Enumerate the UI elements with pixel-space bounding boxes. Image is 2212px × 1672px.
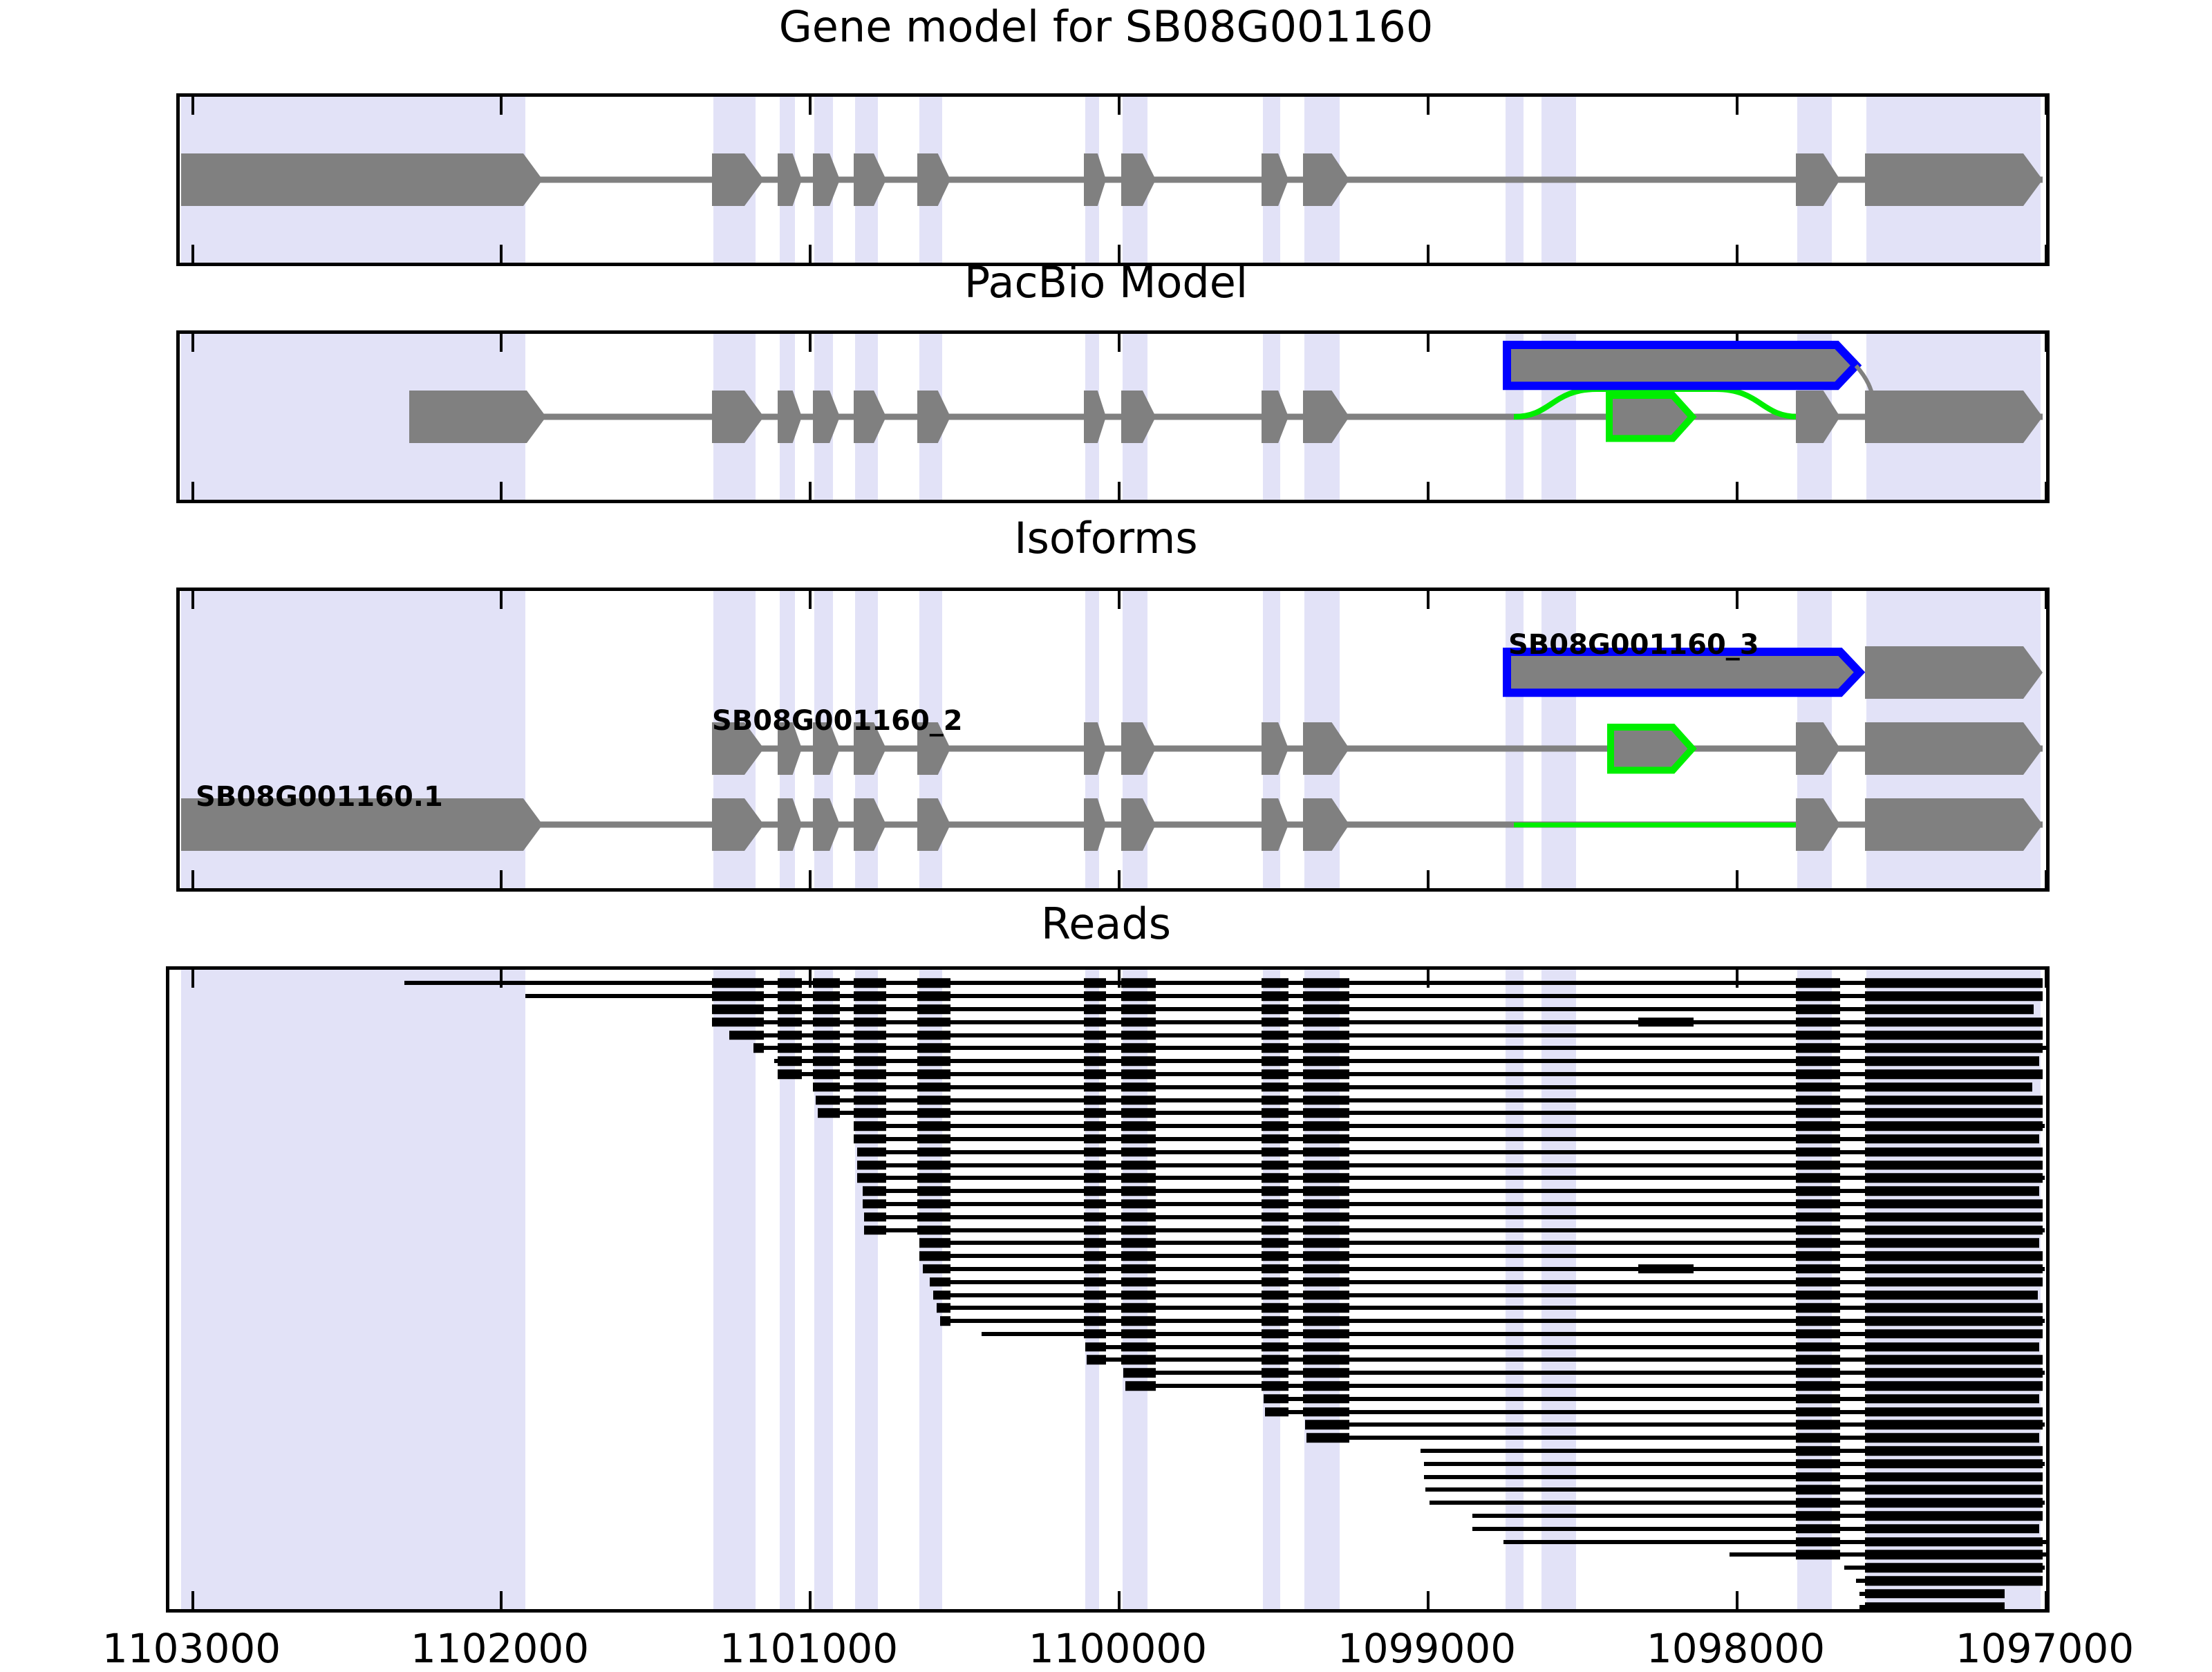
read-exon-block <box>863 1186 886 1196</box>
exon <box>409 390 547 444</box>
read-exon-block <box>813 1056 840 1066</box>
x-tick-label: 1098000 <box>1647 1625 1825 1672</box>
read-line <box>774 1059 2039 1063</box>
read-exon-block <box>917 991 950 1001</box>
read-line <box>818 1111 2043 1115</box>
read-exon-block <box>1121 1239 1156 1248</box>
read-exon-block <box>917 1109 950 1118</box>
highlight-band <box>181 970 525 1609</box>
read-exon-block <box>1084 1239 1106 1248</box>
read-exon-block <box>818 1109 840 1118</box>
read-exon-block <box>1865 1031 2043 1040</box>
exon <box>1261 390 1289 444</box>
read-exon-block <box>1865 1316 2043 1326</box>
read-exon-block <box>1303 1329 1349 1339</box>
transcript-label: SB08G001160_2 <box>712 705 963 737</box>
exon <box>1864 798 2043 852</box>
read-exon-block <box>1865 1239 2039 1248</box>
read-exon-block <box>1796 1251 1840 1261</box>
read-line <box>854 1137 2039 1141</box>
exon <box>1121 390 1156 444</box>
read-exon-block <box>857 1147 886 1157</box>
intron-line <box>712 746 2043 752</box>
read-exon-block <box>1796 1342 1840 1352</box>
read-exon-block <box>1303 1355 1349 1365</box>
read-exon-block <box>1303 1186 1349 1196</box>
read-exon-block <box>1262 1342 1288 1352</box>
read-exon-block <box>1796 1199 1840 1209</box>
read-exon-block <box>1865 1433 2039 1443</box>
read-exon-block <box>1262 1316 1288 1326</box>
read-exon-block <box>854 979 886 988</box>
read-exon-block <box>1262 1264 1288 1274</box>
read-exon-block <box>917 1121 950 1131</box>
read-exon-block <box>854 1017 886 1027</box>
read-exon-block <box>729 1031 764 1040</box>
read-exon-block <box>1262 1355 1288 1365</box>
read-exon-block <box>1262 1381 1288 1391</box>
panel-isoforms[interactable]: SB08G001160_3SB08G001160_2SB08G001160.1 <box>176 588 2050 892</box>
axis-tick <box>1427 97 1430 115</box>
read-exon-block <box>917 1161 950 1170</box>
plot-area-pacbio <box>180 334 2046 500</box>
read-exon-block <box>1865 1485 2043 1495</box>
read-exon-block <box>917 1082 950 1092</box>
read-exon-block <box>778 991 802 1001</box>
read-exon-block <box>1796 1239 1840 1248</box>
read-exon-block <box>1796 1329 1840 1339</box>
read-exon-block <box>1865 1602 2005 1609</box>
axis-tick <box>500 870 503 888</box>
axis-tick <box>191 970 194 988</box>
read-exon-block <box>1121 1031 1156 1040</box>
read-exon-block <box>1865 1121 2043 1131</box>
read-exon-block <box>712 1004 764 1014</box>
read-exon-block <box>1262 1031 1288 1040</box>
read-exon-block <box>1303 1004 1349 1014</box>
read-exon-block <box>933 1290 950 1300</box>
read-exon-block <box>1121 1355 1156 1365</box>
exon <box>711 153 765 207</box>
read-exon-block <box>1262 1329 1288 1339</box>
read-exon-block <box>1796 1044 1840 1053</box>
read-exon-block <box>917 1031 950 1040</box>
read-line <box>816 1098 2043 1102</box>
panel-reads[interactable] <box>166 966 2050 1613</box>
read-exon-block <box>1796 1225 1840 1235</box>
read-exon-block <box>1305 1420 1349 1430</box>
read-exon-block <box>1084 1290 1106 1300</box>
axis-tick <box>1118 482 1121 500</box>
read-exon-block <box>919 1251 950 1261</box>
read-exon-block <box>1303 1277 1349 1287</box>
axis-tick <box>2045 870 2046 888</box>
axis-tick <box>1427 334 1430 352</box>
read-exon-block <box>1121 1251 1156 1261</box>
read-exon-block <box>854 1044 886 1053</box>
exon <box>1795 390 1841 444</box>
axis-tick <box>2045 970 2046 988</box>
x-tick-label: 1102000 <box>411 1625 589 1672</box>
read-exon-block <box>1121 1134 1156 1144</box>
read-exon-block <box>854 1082 886 1092</box>
read-exon-block <box>1796 1004 1840 1014</box>
axis-tick <box>1736 1591 1738 1609</box>
plot-area-gene_model <box>180 97 2046 263</box>
read-exon-block <box>1084 1304 1106 1313</box>
axis-tick <box>1736 97 1738 115</box>
read-exon-block <box>1121 1161 1156 1170</box>
read-exon-block <box>1303 991 1349 1001</box>
read-exon-block <box>1084 991 1106 1001</box>
read-exon-block <box>1303 1199 1349 1209</box>
axis-tick <box>809 482 812 500</box>
read-exon-block <box>1796 1511 1840 1521</box>
read-line <box>712 1020 2043 1024</box>
read-exon-block <box>919 1239 950 1248</box>
read-exon-block <box>1262 1161 1288 1170</box>
x-tick-label: 1099000 <box>1338 1625 1516 1672</box>
read-exon-block <box>1084 1277 1106 1287</box>
axis-tick <box>500 591 503 609</box>
read-exon-block <box>917 1017 950 1027</box>
read-exon-block <box>1865 1186 2039 1196</box>
read-exon-block <box>1865 979 2043 988</box>
read-exon-block <box>1262 1082 1288 1092</box>
exon <box>1083 153 1107 207</box>
read-exon-block <box>1796 1433 1840 1443</box>
read-exon-block <box>1865 1056 2039 1066</box>
read-exon-block <box>1121 1290 1156 1300</box>
read-exon-block <box>1865 1407 2043 1417</box>
read-exon-block <box>1796 1056 1840 1066</box>
read-exon-block <box>917 1199 950 1209</box>
read-exon-block <box>1865 1369 2043 1378</box>
read-exon-block <box>854 1031 886 1040</box>
read-exon-block <box>778 1031 802 1040</box>
axis-tick <box>809 97 812 115</box>
read-exon-block <box>1303 1161 1349 1170</box>
read-exon-block <box>1796 979 1840 988</box>
x-tick-label: 1101000 <box>720 1625 898 1672</box>
read-exon-block <box>1303 1082 1349 1092</box>
read-exon-block <box>1865 1004 2034 1014</box>
read-exon-block <box>813 979 840 988</box>
read-exon-block <box>1796 1134 1840 1144</box>
axis-tick <box>1736 870 1738 888</box>
panel-gene-model[interactable] <box>176 93 2050 266</box>
read-exon-block <box>1796 1537 1840 1547</box>
axis-tick <box>1118 870 1121 888</box>
read-exon-block <box>1262 1199 1288 1209</box>
axis-tick <box>500 482 503 500</box>
read-exon-block <box>1865 1174 2043 1183</box>
read-exon-block <box>1796 1304 1840 1313</box>
read-exon-block <box>1796 1394 1840 1404</box>
read-exon-block <box>917 1056 950 1066</box>
read-exon-block <box>1796 1420 1840 1430</box>
read-exon-block <box>1865 1459 2043 1469</box>
read-exon-block <box>1865 1550 2043 1560</box>
read-exon-block <box>778 979 802 988</box>
exon <box>1302 798 1350 852</box>
exon <box>1795 153 1841 207</box>
read-exon-block <box>778 1056 802 1066</box>
panel-title-pacbio: PacBio Model <box>0 261 2212 304</box>
read-exon-block <box>1865 1212 2043 1222</box>
axis-tick <box>191 1591 194 1609</box>
read-exon-block <box>1121 1121 1156 1131</box>
exon <box>917 390 951 444</box>
read-exon-block <box>1796 1550 1840 1560</box>
read-exon-block <box>1303 1407 1349 1417</box>
read-exon-block <box>857 1174 886 1183</box>
read-exon-block <box>1084 1199 1106 1209</box>
axis-tick <box>500 334 503 352</box>
axis-tick <box>1427 1591 1430 1609</box>
read-exon-block <box>917 1096 950 1105</box>
read-exon-block <box>937 1304 950 1313</box>
read-exon-block <box>1865 1355 2043 1365</box>
read-exon-block <box>1796 1147 1840 1157</box>
read-exon-block <box>1796 1381 1840 1391</box>
exon <box>1864 722 2043 776</box>
read-exon-block <box>917 1225 950 1235</box>
read-exon-block <box>1303 1369 1349 1378</box>
read-exon-block <box>1262 1017 1288 1027</box>
read-exon-block <box>1303 1212 1349 1222</box>
read-exon-block <box>1865 1199 2043 1209</box>
exon <box>711 798 765 852</box>
read-exon-block <box>1121 1096 1156 1105</box>
axis-tick <box>1736 591 1738 609</box>
read-exon-block <box>1262 991 1288 1001</box>
read-exon-block <box>1264 1394 1288 1404</box>
read-exon-block <box>1084 1082 1106 1092</box>
read-exon-block <box>917 1004 950 1014</box>
read-exon-block <box>1084 979 1106 988</box>
read-exon-block <box>1262 979 1288 988</box>
read-exon-block <box>1303 1096 1349 1105</box>
axis-tick <box>809 1591 812 1609</box>
axis-tick <box>809 245 812 263</box>
exon <box>1121 153 1156 207</box>
gene-browser-figure: Gene model for SB08G001160 PacBio Model … <box>0 0 2212 1659</box>
exon <box>1302 722 1350 776</box>
read-exon-block <box>1303 1069 1349 1079</box>
read-exon-block <box>1865 1225 2043 1235</box>
read-exon-block <box>1303 1264 1349 1274</box>
axis-tick <box>1118 591 1121 609</box>
exon <box>1795 722 1841 776</box>
read-exon-block <box>854 991 886 1001</box>
read-exon-block <box>1121 1004 1156 1014</box>
axis-tick <box>191 97 194 115</box>
read-exon-block <box>1084 1264 1106 1274</box>
read-exon-block <box>1084 1121 1106 1131</box>
read-exon-block <box>1121 1147 1156 1157</box>
read-exon-block <box>1865 1381 2043 1391</box>
read-exon-block <box>1084 1186 1106 1196</box>
read-exon-block <box>1121 1017 1156 1027</box>
read-line <box>778 1072 2043 1076</box>
read-exon-block <box>1262 1056 1288 1066</box>
read-exon-block <box>1084 1017 1106 1027</box>
read-exon-block <box>712 991 764 1001</box>
read-exon-block <box>1303 1290 1349 1300</box>
read-exon-block <box>778 1069 802 1079</box>
read-exon-block <box>854 1056 886 1066</box>
read-exon-block <box>1262 1186 1288 1196</box>
axis-tick <box>809 870 812 888</box>
read-exon-block <box>1303 1017 1349 1027</box>
read-exon-block <box>1303 1381 1349 1391</box>
read-exon-block <box>1865 1576 2043 1586</box>
exon <box>853 798 887 852</box>
read-exon-block <box>1262 1121 1288 1131</box>
read-exon-block <box>1084 1069 1106 1079</box>
read-exon-block <box>1865 1096 2043 1105</box>
axis-tick <box>809 591 812 609</box>
read-exon-block <box>863 1199 886 1209</box>
read-exon-block <box>1262 1174 1288 1183</box>
exon <box>812 390 841 444</box>
read-exon-block <box>1865 1277 2043 1287</box>
read-exon-block <box>1796 1290 1840 1300</box>
x-tick-label: 1097000 <box>1956 1625 2134 1672</box>
axis-tick <box>1427 482 1430 500</box>
read-exon-block <box>1121 1212 1156 1222</box>
read-exon-block <box>1865 1017 2043 1027</box>
axis-tick <box>191 870 194 888</box>
read-exon-block <box>1865 1251 2043 1261</box>
transcript-label: SB08G001160.1 <box>196 781 443 813</box>
axis-tick <box>191 591 194 609</box>
read-exon-block <box>753 1044 764 1053</box>
read-exon-block <box>857 1161 886 1170</box>
exon <box>777 798 803 852</box>
read-exon-block <box>1303 1031 1349 1040</box>
read-exon-block <box>1121 1225 1156 1235</box>
read-exon-block <box>1865 1563 2043 1572</box>
read-exon-block <box>1262 1277 1288 1287</box>
plot-area-reads <box>169 970 2046 1609</box>
read-exon-block <box>1796 1109 1840 1118</box>
read-exon-block <box>1796 991 1840 1001</box>
read-exon-block <box>1262 1004 1288 1014</box>
read-exon-block <box>1303 1316 1349 1326</box>
exon <box>1261 153 1289 207</box>
panel-title-reads: Reads <box>0 903 2212 946</box>
read-exon-block <box>1084 1031 1106 1040</box>
axis-tick <box>1118 1591 1121 1609</box>
read-exon-block <box>1796 1069 1840 1079</box>
read-exon-block <box>1262 1147 1288 1157</box>
exon <box>1083 722 1107 776</box>
read-exon-block <box>1121 1174 1156 1183</box>
read-exon-block <box>712 979 764 988</box>
read-exon-block <box>1121 1056 1156 1066</box>
read-exon-block <box>854 1004 886 1014</box>
axis-tick <box>500 97 503 115</box>
read-exon-block <box>917 1147 950 1157</box>
read-exon-block <box>1865 1524 2039 1534</box>
read-exon-block <box>1084 1134 1106 1144</box>
read-exon-block <box>1865 1290 2038 1300</box>
read-exon-block <box>813 1082 840 1092</box>
read-exon-block <box>1121 1264 1156 1274</box>
read-exon-block <box>1865 1446 2043 1456</box>
read-exon-block <box>1796 1316 1840 1326</box>
read-exon-block <box>1121 1304 1156 1313</box>
read-exon-block <box>917 1174 950 1183</box>
read-exon-block <box>816 1096 840 1105</box>
exon <box>180 153 543 207</box>
read-exon-block <box>940 1316 950 1326</box>
read-exon-block <box>1084 1212 1106 1222</box>
read-exon-block <box>917 1069 950 1079</box>
read-exon-block <box>1306 1433 1349 1443</box>
read-exon-block <box>813 1017 840 1027</box>
axis-tick <box>809 334 812 352</box>
panel-title-gene-model: Gene model for SB08G001160 <box>0 6 2212 48</box>
axis-tick <box>500 1591 503 1609</box>
read-exon-block <box>1262 1369 1288 1378</box>
panel-pacbio-model[interactable] <box>176 330 2050 503</box>
read-exon-block <box>1125 1381 1156 1391</box>
read-exon-block <box>813 991 840 1001</box>
read-exon-block <box>1303 1174 1349 1183</box>
read-exon-block <box>1865 1082 2032 1092</box>
read-exon-block <box>1084 1109 1106 1118</box>
read-exon-block <box>1121 1316 1156 1326</box>
read-exon-block <box>1303 1134 1349 1144</box>
read-exon-block <box>1303 1044 1349 1053</box>
read-exon-block <box>1121 1082 1156 1092</box>
read-exon-block <box>1262 1096 1288 1105</box>
read-exon-block <box>1085 1342 1106 1352</box>
exon-outlined <box>1497 335 1866 395</box>
read-exon-block <box>1121 1069 1156 1079</box>
read-exon-block <box>1084 1174 1106 1183</box>
read-exon-block <box>1303 1056 1349 1066</box>
exon <box>1121 798 1156 852</box>
read-exon-block <box>1303 1147 1349 1157</box>
axis-tick <box>2045 591 2046 609</box>
exon <box>1261 722 1289 776</box>
read-exon-block <box>1865 1537 2043 1547</box>
read-exon-block <box>1084 1147 1106 1157</box>
read-exon-block <box>1796 1277 1840 1287</box>
axis-tick <box>1118 245 1121 263</box>
exon <box>1302 390 1350 444</box>
read-exon-block <box>1796 1524 1840 1534</box>
axis-tick <box>2045 245 2046 263</box>
read-exon-block <box>1262 1225 1288 1235</box>
axis-tick <box>191 334 194 352</box>
axis-tick <box>1427 245 1430 263</box>
read-exon-block <box>1121 991 1156 1001</box>
read-exon-block <box>813 1044 840 1053</box>
read-exon-block <box>1796 1121 1840 1131</box>
read-exon-block <box>1796 1355 1840 1365</box>
read-exon-block <box>1084 1225 1106 1235</box>
read-exon-block <box>1121 1329 1156 1339</box>
read-exon-block <box>917 1212 950 1222</box>
read-exon-block <box>917 1044 950 1053</box>
axis-tick <box>2045 97 2046 115</box>
read-exon-block <box>1796 1485 1840 1495</box>
